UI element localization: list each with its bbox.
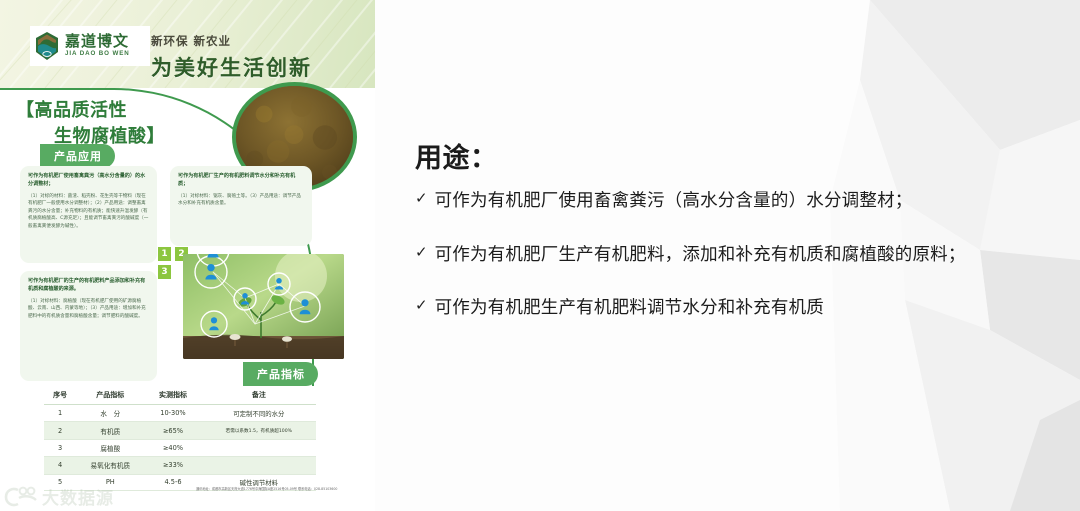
application-card-3-head: 可作为有机肥厂生产的有机肥料调节水分和补充有机质；	[178, 173, 304, 189]
checkmark-icon: ✓	[415, 244, 428, 262]
application-card-1-body: （1）对标的材料：菌渣、稻壳粉、花生壳等干物料（现在有机肥厂一般使用水分调整材）…	[28, 193, 149, 230]
cell-no: 4	[44, 457, 76, 474]
cell-measured: 4.5-6	[144, 474, 201, 490]
checkmark-icon: ✓	[415, 297, 428, 315]
table-header-row: 序号 产品指标 实测指标 备注	[44, 386, 316, 405]
usage-bullet-text: 可作为有机肥厂生产有机肥料，添加和补充有机质和腐植酸的原料；	[435, 244, 966, 268]
brand-name-en: JIA DAO BO WEN	[65, 51, 130, 57]
watermark: 大数据源	[4, 484, 114, 509]
tagline-small: 新环保 新农业	[151, 33, 231, 49]
poster-header: 嘉道博文 JIA DAO BO WEN 新环保 新农业 为美好生活创新	[0, 0, 375, 88]
badge-application-label: 产品应用	[40, 144, 115, 168]
cell-note	[202, 439, 316, 456]
table-row: 1 水 分 10-30% 可定制不同的水分	[44, 405, 316, 422]
watermark-text: 大数据源	[42, 484, 114, 509]
usage-bullet-text: 可作为有机肥生产有机肥料调节水分和补充有机质	[435, 297, 824, 321]
poster-title-line1: 【高品质活性	[16, 100, 127, 121]
cell-measured: ≥33%	[144, 457, 201, 474]
cell-measured: 10-30%	[144, 405, 201, 422]
cell-indicator: 腐植酸	[76, 439, 144, 456]
cell-measured: ≥40%	[144, 439, 201, 456]
table-row: 4 易氧化有机质 ≥33%	[44, 457, 316, 474]
application-card-3-body: （1）对标材料：锯灰、腐殖土等。（3）产品用途：调节产品水分和补充有机质含量。	[178, 193, 304, 208]
application-card-2-head: 可作为有机肥厂的生产的有机肥料产品添加和补充有机质和腐植酸的来源。	[28, 278, 149, 294]
table-row: 2 有机质 ≥65% 若需以系数1.5，有机质超100%	[44, 422, 316, 439]
cell-measured: ≥65%	[144, 422, 201, 439]
table-header-note: 备注	[202, 386, 316, 405]
usage-bullet-list: ✓ 可作为有机肥厂使用畜禽粪污（高水分含量的）水分调整材； ✓ 可作为有机肥厂生…	[415, 190, 1075, 351]
section-badge-application: 产品应用	[40, 144, 115, 168]
number-badge-1: 1	[158, 247, 171, 261]
brand-name-cn: 嘉道博文	[65, 34, 130, 49]
contact-info: 通讯地址：成都市高新区天府大道1776号中海国际A座2516号05-09号 联系…	[196, 487, 346, 492]
application-card-2-body: （1）对标材料：腐植酸（现在有机肥厂使用的矿源腐植酸、云南、山西、内蒙等地）；（…	[28, 298, 149, 320]
cell-note	[202, 457, 316, 474]
tagline-large: 为美好生活创新	[151, 52, 312, 82]
logo-shield-icon	[34, 31, 60, 61]
application-card-1-head: 可作为有机肥厂使用畜禽粪污（高水分含量的）的水分调整材；	[28, 173, 149, 189]
usage-bullet-item: ✓ 可作为有机肥厂生产有机肥料，添加和补充有机质和腐植酸的原料；	[415, 244, 1075, 268]
brand-logo: 嘉道博文 JIA DAO BO WEN	[30, 26, 150, 66]
checkmark-icon: ✓	[415, 190, 428, 208]
cell-no: 3	[44, 439, 76, 456]
cell-indicator: 有机质	[76, 422, 144, 439]
watermark-logo-icon	[4, 486, 38, 508]
cell-note: 若需以系数1.5，有机质超100%	[202, 422, 316, 439]
application-card-1: 可作为有机肥厂使用畜禽粪污（高水分含量的）的水分调整材； （1）对标的材料：菌渣…	[20, 166, 157, 263]
usage-bullet-item: ✓ 可作为有机肥生产有机肥料调节水分和补充有机质	[415, 297, 1075, 321]
seedling-illustration	[183, 254, 344, 359]
badge-indicators-label: 产品指标	[243, 362, 318, 386]
seedling-network-photo	[183, 254, 344, 359]
section-badge-indicators: 产品指标	[243, 362, 318, 386]
cell-indicator: 水 分	[76, 405, 144, 422]
cell-no: 1	[44, 405, 76, 422]
product-poster: 嘉道博文 JIA DAO BO WEN 新环保 新农业 为美好生活创新	[0, 0, 375, 511]
slide-canvas: 嘉道博文 JIA DAO BO WEN 新环保 新农业 为美好生活创新	[0, 0, 1080, 511]
table-row: 3 腐植酸 ≥40%	[44, 439, 316, 456]
usage-section: 用途： ✓ 可作为有机肥厂使用畜禽粪污（高水分含量的）水分调整材； ✓ 可作为有…	[412, 0, 1080, 511]
cell-indicator: 易氧化有机质	[76, 457, 144, 474]
table-header-measured: 实测指标	[144, 386, 201, 405]
cell-note: 可定制不同的水分	[202, 405, 316, 422]
usage-bullet-item: ✓ 可作为有机肥厂使用畜禽粪污（高水分含量的）水分调整材；	[415, 190, 1075, 214]
usage-title: 用途：	[415, 136, 498, 175]
cell-no: 2	[44, 422, 76, 439]
poster-title: 【高品质活性 生物腐植酸】	[16, 98, 231, 150]
table-header-no: 序号	[44, 386, 76, 405]
spec-table: 序号 产品指标 实测指标 备注 1 水 分 10-30% 可定制不同的水分 2 …	[44, 386, 316, 491]
usage-bullet-text: 可作为有机肥厂使用畜禽粪污（高水分含量的）水分调整材；	[435, 190, 913, 214]
number-badge-3: 3	[158, 265, 171, 279]
table-header-indicator: 产品指标	[76, 386, 144, 405]
application-card-3: 可作为有机肥厂生产的有机肥料调节水分和补充有机质； （1）对标材料：锯灰、腐殖土…	[170, 166, 312, 246]
application-card-2: 可作为有机肥厂的生产的有机肥料产品添加和补充有机质和腐植酸的来源。 （1）对标材…	[20, 271, 157, 381]
